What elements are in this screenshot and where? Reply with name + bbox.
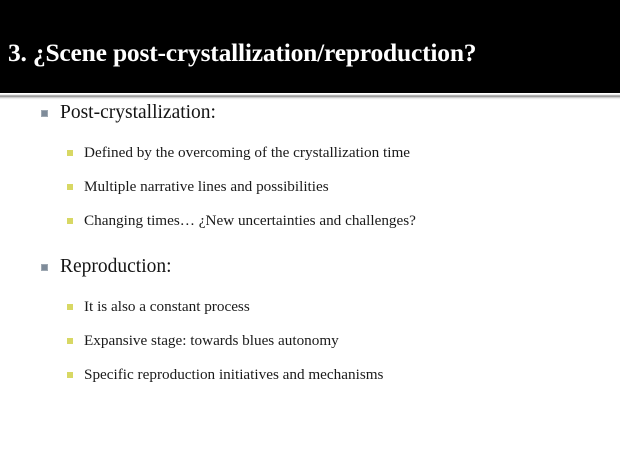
slide: 3. ¿Scene post-crystallization/reproduct…	[0, 0, 620, 465]
level2-bullet-item: Multiple narrative lines and possibiliti…	[0, 176, 620, 198]
small-square-bullet-icon	[67, 372, 73, 378]
title-divider	[0, 93, 620, 100]
level2-bullet-item: Defined by the overcoming of the crystal…	[0, 142, 620, 164]
small-square-bullet-icon	[67, 150, 73, 156]
bullet-group-reproduction: Reproduction: It is also a constant proc…	[0, 254, 620, 386]
spacer	[0, 164, 620, 176]
small-square-bullet-icon	[67, 338, 73, 344]
level1-bullet-post-crystallization: Post-crystallization:	[0, 100, 620, 126]
slide-body: Post-crystallization: Defined by the ove…	[0, 100, 620, 465]
level2-bullet-label: Multiple narrative lines and possibiliti…	[84, 178, 329, 195]
spacer	[0, 318, 620, 330]
spacer	[0, 352, 620, 364]
square-bullet-icon	[41, 110, 48, 117]
small-square-bullet-icon	[67, 184, 73, 190]
level1-bullet-label: Post-crystallization:	[60, 102, 216, 123]
level2-bullet-item: Changing times… ¿New uncertainties and c…	[0, 210, 620, 232]
spacer	[0, 126, 620, 142]
level2-bullet-label: Specific reproduction initiatives and me…	[84, 366, 383, 383]
level2-bullet-label: Changing times… ¿New uncertainties and c…	[84, 212, 416, 229]
level2-bullet-label: Expansive stage: towards blues autonomy	[84, 332, 339, 349]
level2-bullet-label: It is also a constant process	[84, 298, 250, 315]
level2-bullet-item: Specific reproduction initiatives and me…	[0, 364, 620, 386]
small-square-bullet-icon	[67, 304, 73, 310]
level1-bullet-reproduction: Reproduction:	[0, 254, 620, 280]
level2-bullet-item: Expansive stage: towards blues autonomy	[0, 330, 620, 352]
slide-title-band: 3. ¿Scene post-crystallization/reproduct…	[0, 0, 620, 93]
level2-bullet-item: It is also a constant process	[0, 296, 620, 318]
spacer	[0, 280, 620, 296]
small-square-bullet-icon	[67, 218, 73, 224]
square-bullet-icon	[41, 264, 48, 271]
slide-title: 3. ¿Scene post-crystallization/reproduct…	[0, 40, 482, 67]
spacer	[0, 232, 620, 254]
level1-bullet-label: Reproduction:	[60, 256, 172, 277]
spacer	[0, 198, 620, 210]
bullet-group-post-crystallization: Post-crystallization: Defined by the ove…	[0, 100, 620, 232]
level2-bullet-label: Defined by the overcoming of the crystal…	[84, 144, 410, 161]
